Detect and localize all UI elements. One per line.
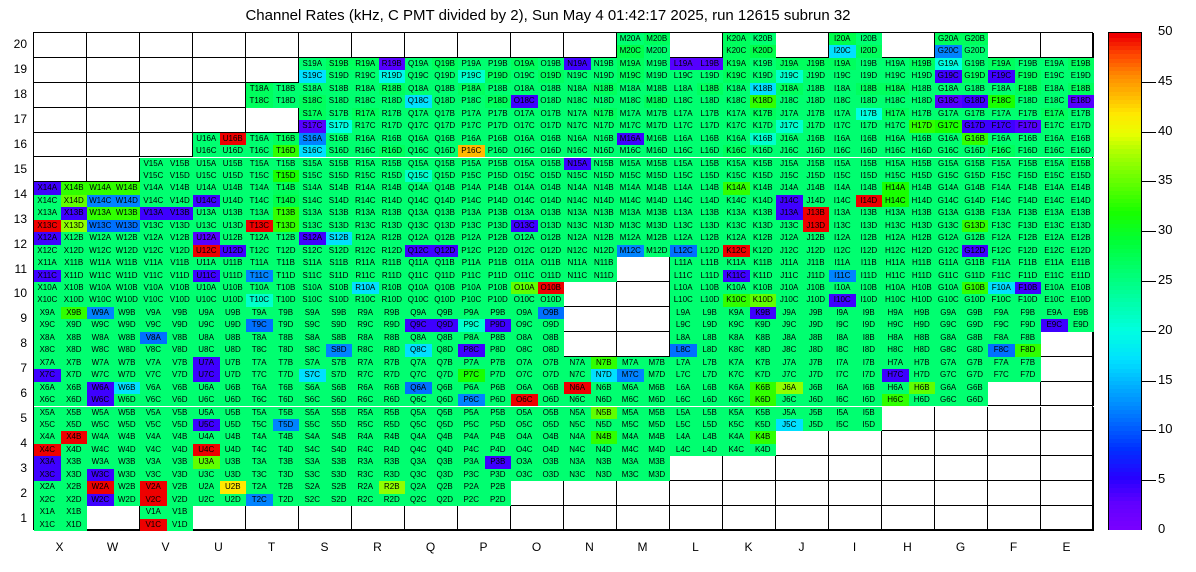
channel-O14D[interactable]: O14D	[538, 195, 565, 207]
detector-module-L16[interactable]: L16AL16BL16CL16D	[670, 133, 723, 158]
channel-N19B[interactable]: N19B	[591, 58, 618, 70]
channel-X7C[interactable]: X7C	[34, 369, 61, 381]
channel-L16B[interactable]: L16B	[697, 133, 724, 145]
detector-module-H11[interactable]: H11AH11BH11CH11D	[882, 257, 935, 282]
channel-M13D[interactable]: M13D	[644, 220, 671, 232]
detector-module-Q5[interactable]: Q5AQ5BQ5CQ5D	[405, 407, 458, 432]
channel-U12D[interactable]: U12D	[220, 245, 247, 257]
channel-E16B[interactable]: E16B	[1068, 133, 1095, 145]
detector-module-H18[interactable]: H18AH18BH18CH18D	[882, 83, 935, 108]
channel-S14C[interactable]: S14C	[299, 195, 326, 207]
detector-module-V11[interactable]: V11AV11BV11CV11D	[140, 257, 193, 282]
channel-K18C[interactable]: K18C	[723, 95, 750, 107]
channel-E10B[interactable]: E10B	[1068, 282, 1095, 294]
channel-P15C[interactable]: P15C	[458, 170, 485, 182]
channel-M15A[interactable]: M15A	[617, 158, 644, 170]
channel-T18A[interactable]: T18A	[246, 83, 273, 95]
detector-module-O16[interactable]: O16AO16BO16CO16D	[511, 133, 564, 158]
detector-module-M8[interactable]	[617, 332, 670, 357]
channel-K12D[interactable]: K12D	[750, 245, 777, 257]
channel-W9A[interactable]: W9A	[87, 307, 114, 319]
channel-O3A[interactable]: O3A	[511, 456, 538, 468]
detector-module-U18[interactable]	[193, 83, 246, 108]
channel-L7B[interactable]: L7B	[697, 357, 724, 369]
detector-module-X17[interactable]	[34, 108, 87, 133]
channel-R6C[interactable]: R6C	[352, 394, 379, 406]
channel-O5D[interactable]: O5D	[538, 419, 565, 431]
detector-module-I1[interactable]	[829, 506, 882, 531]
channel-O18B[interactable]: O18B	[538, 83, 565, 95]
channel-P14A[interactable]: P14A	[458, 182, 485, 194]
channel-G6A[interactable]: G6A	[935, 382, 962, 394]
channel-K18A[interactable]: K18A	[723, 83, 750, 95]
detector-module-X20[interactable]	[34, 33, 87, 58]
channel-S19A[interactable]: S19A	[299, 58, 326, 70]
channel-O7C[interactable]: O7C	[511, 369, 538, 381]
channel-X6A[interactable]: X6A	[34, 382, 61, 394]
channel-F18B[interactable]: F18B	[1015, 83, 1042, 95]
channel-N4B[interactable]: N4B	[591, 431, 618, 443]
channel-R8A[interactable]: R8A	[352, 332, 379, 344]
channel-P5D[interactable]: P5D	[485, 419, 512, 431]
channel-I5A[interactable]: I5A	[829, 407, 856, 419]
detector-module-L18[interactable]: L18AL18BL18CL18D	[670, 83, 723, 108]
detector-module-S20[interactable]	[299, 33, 352, 58]
channel-E14C[interactable]: E14C	[1041, 195, 1068, 207]
channel-P14D[interactable]: P14D	[485, 195, 512, 207]
detector-module-M7[interactable]: M7AM7BM7CM7D	[617, 357, 670, 382]
channel-U9D[interactable]: U9D	[220, 319, 247, 331]
channel-O19C[interactable]: O19C	[511, 70, 538, 82]
detector-module-I16[interactable]: I16AI16BI16CI16D	[829, 133, 882, 158]
channel-N15D[interactable]: N15D	[591, 170, 618, 182]
channel-E12D[interactable]: E12D	[1068, 245, 1095, 257]
detector-module-R17[interactable]: R17AR17BR17CR17D	[352, 108, 405, 133]
channel-X5C[interactable]: X5C	[34, 419, 61, 431]
detector-module-R18[interactable]: R18AR18BR18CR18D	[352, 83, 405, 108]
channel-T12D[interactable]: T12D	[273, 245, 300, 257]
channel-R9C[interactable]: R9C	[352, 319, 379, 331]
channel-K10D[interactable]: K10D	[750, 294, 777, 306]
channel-K14C[interactable]: K14C	[723, 195, 750, 207]
channel-S8A[interactable]: S8A	[299, 332, 326, 344]
channel-J15B[interactable]: J15B	[803, 158, 830, 170]
detector-module-N12[interactable]: N12AN12BN12CN12D	[564, 232, 617, 257]
channel-J5C[interactable]: J5C	[776, 419, 803, 431]
channel-J13D[interactable]: J13D	[803, 220, 830, 232]
channel-T4A[interactable]: T4A	[246, 431, 273, 443]
channel-T4D[interactable]: T4D	[273, 444, 300, 456]
channel-T11D[interactable]: T11D	[273, 270, 300, 282]
detector-module-P7[interactable]: P7AP7BP7CP7D	[458, 357, 511, 382]
channel-K4A[interactable]: K4A	[723, 431, 750, 443]
channel-P18B[interactable]: P18B	[485, 83, 512, 95]
channel-K9B[interactable]: K9B	[750, 307, 777, 319]
detector-module-O19[interactable]: O19AO19BO19CO19D	[511, 58, 564, 83]
channel-E14B[interactable]: E14B	[1068, 182, 1095, 194]
channel-O13D[interactable]: O13D	[538, 220, 565, 232]
channel-X3A[interactable]: X3A	[34, 456, 61, 468]
channel-G7A[interactable]: G7A	[935, 357, 962, 369]
channel-E9C[interactable]: E9C	[1041, 319, 1068, 331]
detector-module-J20[interactable]	[776, 33, 829, 58]
channel-N11D[interactable]: N11D	[591, 270, 618, 282]
channel-E11C[interactable]: E11C	[1041, 270, 1068, 282]
channel-Q8C[interactable]: Q8C	[405, 344, 432, 356]
channel-L15A[interactable]: L15A	[670, 158, 697, 170]
channel-M19C[interactable]: M19C	[617, 70, 644, 82]
channel-K12C[interactable]: K12C	[723, 245, 750, 257]
detector-module-O18[interactable]: O18AO18BO18CO18D	[511, 83, 564, 108]
channel-O17C[interactable]: O17C	[511, 120, 538, 132]
channel-G12C[interactable]: G12C	[935, 245, 962, 257]
channel-K5A[interactable]: K5A	[723, 407, 750, 419]
channel-Q2D[interactable]: Q2D	[432, 494, 459, 506]
channel-J7B[interactable]: J7B	[803, 357, 830, 369]
channel-M14D[interactable]: M14D	[644, 195, 671, 207]
channel-X11C[interactable]: X11C	[34, 270, 61, 282]
detector-module-M16[interactable]: M16AM16BM16CM16D	[617, 133, 670, 158]
channel-I15C[interactable]: I15C	[829, 170, 856, 182]
channel-H8B[interactable]: H8B	[909, 332, 936, 344]
channel-R13A[interactable]: R13A	[352, 207, 379, 219]
channel-N12A[interactable]: N12A	[564, 232, 591, 244]
channel-H9A[interactable]: H9A	[882, 307, 909, 319]
channel-L8D[interactable]: L8D	[697, 344, 724, 356]
detector-module-E11[interactable]: E11AE11BE11CE11D	[1041, 257, 1094, 282]
detector-heatmap-plot[interactable]: M20AM20BM20CM20DK20AK20BK20CK20DI20AI20B…	[33, 32, 1093, 530]
channel-V13D[interactable]: V13D	[167, 220, 194, 232]
channel-K20D[interactable]: K20D	[750, 45, 777, 57]
channel-W8D[interactable]: W8D	[114, 344, 141, 356]
channel-U7A[interactable]: U7A	[193, 357, 220, 369]
channel-S4C[interactable]: S4C	[299, 444, 326, 456]
detector-module-I12[interactable]: I12AI12BI12CI12D	[829, 232, 882, 257]
detector-module-L1[interactable]	[670, 506, 723, 531]
channel-X9A[interactable]: X9A	[34, 307, 61, 319]
channel-F17A[interactable]: F17A	[988, 108, 1015, 120]
channel-O11C[interactable]: O11C	[511, 270, 538, 282]
channel-G8A[interactable]: G8A	[935, 332, 962, 344]
detector-module-V10[interactable]: V10AV10BV10CV10D	[140, 282, 193, 307]
detector-module-K17[interactable]: K17AK17BK17CK17D	[723, 108, 776, 133]
channel-Q15B[interactable]: Q15B	[432, 158, 459, 170]
channel-U7D[interactable]: U7D	[220, 369, 247, 381]
detector-module-G8[interactable]: G8AG8BG8CG8D	[935, 332, 988, 357]
detector-module-S2[interactable]: S2AS2BS2CS2D	[299, 481, 352, 506]
channel-N13A[interactable]: N13A	[564, 207, 591, 219]
channel-P2B[interactable]: P2B	[485, 481, 512, 493]
channel-T3C[interactable]: T3C	[246, 469, 273, 481]
detector-module-E3[interactable]	[1041, 456, 1094, 481]
channel-P13C[interactable]: P13C	[458, 220, 485, 232]
channel-O14A[interactable]: O14A	[511, 182, 538, 194]
channel-F18D[interactable]: F18D	[1015, 95, 1042, 107]
channel-S6A[interactable]: S6A	[299, 382, 326, 394]
channel-Q13D[interactable]: Q13D	[432, 220, 459, 232]
detector-module-G7[interactable]: G7AG7BG7CG7D	[935, 357, 988, 382]
channel-T15A[interactable]: T15A	[246, 158, 273, 170]
channel-I14D[interactable]: I14D	[856, 195, 883, 207]
channel-Q14C[interactable]: Q14C	[405, 195, 432, 207]
channel-Q19A[interactable]: Q19A	[405, 58, 432, 70]
channel-M12A[interactable]: M12A	[617, 232, 644, 244]
channel-U14A[interactable]: U14A	[193, 182, 220, 194]
channel-I5C[interactable]: I5C	[829, 419, 856, 431]
detector-module-R6[interactable]: R6AR6BR6CR6D	[352, 382, 405, 407]
channel-S8C[interactable]: S8C	[299, 344, 326, 356]
channel-M18D[interactable]: M18D	[644, 95, 671, 107]
channel-S10A[interactable]: S10A	[299, 282, 326, 294]
channel-J16D[interactable]: J16D	[803, 145, 830, 157]
detector-module-G13[interactable]: G13AG13BG13CG13D	[935, 207, 988, 232]
channel-J15A[interactable]: J15A	[776, 158, 803, 170]
channel-J17D[interactable]: J17D	[803, 120, 830, 132]
detector-module-R12[interactable]: R12AR12BR12CR12D	[352, 232, 405, 257]
channel-R8C[interactable]: R8C	[352, 344, 379, 356]
channel-S13C[interactable]: S13C	[299, 220, 326, 232]
channel-U15D[interactable]: U15D	[220, 170, 247, 182]
detector-module-W13[interactable]: W13AW13BW13CW13D	[87, 207, 140, 232]
channel-G17A[interactable]: G17A	[935, 108, 962, 120]
channel-N14D[interactable]: N14D	[591, 195, 618, 207]
channel-M3A[interactable]: M3A	[617, 456, 644, 468]
channel-Q18A[interactable]: Q18A	[405, 83, 432, 95]
channel-E13A[interactable]: E13A	[1041, 207, 1068, 219]
channel-E18B[interactable]: E18B	[1068, 83, 1095, 95]
channel-L19A[interactable]: L19A	[670, 58, 697, 70]
channel-V12B[interactable]: V12B	[167, 232, 194, 244]
channel-J5B[interactable]: J5B	[803, 407, 830, 419]
channel-R10B[interactable]: R10B	[379, 282, 406, 294]
channel-X14C[interactable]: X14C	[34, 195, 61, 207]
channel-J5A[interactable]: J5A	[776, 407, 803, 419]
detector-module-E12[interactable]: E12AE12BE12CE12D	[1041, 232, 1094, 257]
channel-I6D[interactable]: I6D	[856, 394, 883, 406]
channel-G20C[interactable]: G20C	[935, 45, 962, 57]
detector-module-T2[interactable]: T2AT2BT2CT2D	[246, 481, 299, 506]
channel-H16B[interactable]: H16B	[909, 133, 936, 145]
channel-G11B[interactable]: G11B	[962, 257, 989, 269]
channel-U10B[interactable]: U10B	[220, 282, 247, 294]
channel-J10B[interactable]: J10B	[803, 282, 830, 294]
channel-S11A[interactable]: S11A	[299, 257, 326, 269]
channel-E16C[interactable]: E16C	[1041, 145, 1068, 157]
detector-module-X1[interactable]: X1AX1BX1CX1D	[34, 506, 87, 531]
channel-K11D[interactable]: K11D	[750, 270, 777, 282]
channel-J8A[interactable]: J8A	[776, 332, 803, 344]
channel-M3B[interactable]: M3B	[644, 456, 671, 468]
channel-T12B[interactable]: T12B	[273, 232, 300, 244]
detector-module-F9[interactable]: F9AF9BF9CF9D	[988, 307, 1041, 332]
channel-H16A[interactable]: H16A	[882, 133, 909, 145]
detector-module-P6[interactable]: P6AP6BP6CP6D	[458, 382, 511, 407]
channel-T11C[interactable]: T11C	[246, 270, 273, 282]
detector-module-K2[interactable]	[723, 481, 776, 506]
channel-G6D[interactable]: G6D	[962, 394, 989, 406]
channel-P19A[interactable]: P19A	[458, 58, 485, 70]
channel-R17C[interactable]: R17C	[352, 120, 379, 132]
channel-N18C[interactable]: N18C	[564, 95, 591, 107]
detector-module-Q12[interactable]: Q12AQ12BQ12CQ12D	[405, 232, 458, 257]
channel-O4C[interactable]: O4C	[511, 444, 538, 456]
channel-M6B[interactable]: M6B	[644, 382, 671, 394]
channel-O10B[interactable]: O10B	[538, 282, 565, 294]
channel-H18A[interactable]: H18A	[882, 83, 909, 95]
channel-N7C[interactable]: N7C	[564, 369, 591, 381]
channel-U12A[interactable]: U12A	[193, 232, 220, 244]
channel-T16A[interactable]: T16A	[246, 133, 273, 145]
channel-W5D[interactable]: W5D	[114, 419, 141, 431]
channel-W2A[interactable]: W2A	[87, 481, 114, 493]
channel-J10A[interactable]: J10A	[776, 282, 803, 294]
channel-S13A[interactable]: S13A	[299, 207, 326, 219]
channel-L14D[interactable]: L14D	[697, 195, 724, 207]
channel-S19B[interactable]: S19B	[326, 58, 353, 70]
channel-J13B[interactable]: J13B	[803, 207, 830, 219]
channel-H8A[interactable]: H8A	[882, 332, 909, 344]
channel-X5B[interactable]: X5B	[61, 407, 88, 419]
channel-I12A[interactable]: I12A	[829, 232, 856, 244]
channel-P14C[interactable]: P14C	[458, 195, 485, 207]
channel-L5A[interactable]: L5A	[670, 407, 697, 419]
detector-module-F20[interactable]	[988, 33, 1041, 58]
channel-G7B[interactable]: G7B	[962, 357, 989, 369]
detector-module-N20[interactable]	[564, 33, 617, 58]
channel-T14C[interactable]: T14C	[246, 195, 273, 207]
channel-R17D[interactable]: R17D	[379, 120, 406, 132]
channel-M19B[interactable]: M19B	[644, 58, 671, 70]
channel-W6B[interactable]: W6B	[114, 382, 141, 394]
detector-module-L2[interactable]	[670, 481, 723, 506]
channel-W12A[interactable]: W12A	[87, 232, 114, 244]
channel-H7D[interactable]: H7D	[909, 369, 936, 381]
channel-X1B[interactable]: X1B	[61, 506, 88, 518]
channel-M5A[interactable]: M5A	[617, 407, 644, 419]
detector-module-P14[interactable]: P14AP14BP14CP14D	[458, 182, 511, 207]
channel-I9D[interactable]: I9D	[856, 319, 883, 331]
channel-L16A[interactable]: L16A	[670, 133, 697, 145]
channel-T9A[interactable]: T9A	[246, 307, 273, 319]
channel-O11A[interactable]: O11A	[511, 257, 538, 269]
channel-H19A[interactable]: H19A	[882, 58, 909, 70]
channel-H17B[interactable]: H17B	[909, 108, 936, 120]
channel-H7C[interactable]: H7C	[882, 369, 909, 381]
channel-J8C[interactable]: J8C	[776, 344, 803, 356]
channel-E9A[interactable]: E9A	[1041, 307, 1068, 319]
channel-G6B[interactable]: G6B	[962, 382, 989, 394]
channel-U3D[interactable]: U3D	[220, 469, 247, 481]
channel-W9D[interactable]: W9D	[114, 319, 141, 331]
channel-R16D[interactable]: R16D	[379, 145, 406, 157]
detector-module-K7[interactable]: K7AK7BK7CK7D	[723, 357, 776, 382]
detector-module-J18[interactable]: J18AJ18BJ18CJ18D	[776, 83, 829, 108]
channel-P6D[interactable]: P6D	[485, 394, 512, 406]
channel-P4B[interactable]: P4B	[485, 431, 512, 443]
channel-U11B[interactable]: U11B	[220, 257, 247, 269]
channel-F13B[interactable]: F13B	[1015, 207, 1042, 219]
detector-module-V12[interactable]: V12AV12BV12CV12D	[140, 232, 193, 257]
detector-module-F13[interactable]: F13AF13BF13CF13D	[988, 207, 1041, 232]
detector-module-U2[interactable]: U2AU2BU2CU2D	[193, 481, 246, 506]
detector-module-M3[interactable]: M3AM3BM3CM3D	[617, 456, 670, 481]
channel-G18A[interactable]: G18A	[935, 83, 962, 95]
channel-Q2B[interactable]: Q2B	[432, 481, 459, 493]
detector-module-I9[interactable]: I9AI9BI9CI9D	[829, 307, 882, 332]
detector-module-G16[interactable]: G16AG16BG16CG16D	[935, 133, 988, 158]
channel-I8B[interactable]: I8B	[856, 332, 883, 344]
channel-J14B[interactable]: J14B	[803, 182, 830, 194]
channel-S5A[interactable]: S5A	[299, 407, 326, 419]
channel-G15C[interactable]: G15C	[935, 170, 962, 182]
channel-U8D[interactable]: U8D	[220, 344, 247, 356]
channel-Q9D[interactable]: Q9D	[432, 319, 459, 331]
detector-module-X10[interactable]: X10AX10BX10CX10D	[34, 282, 87, 307]
channel-U8C[interactable]: U8C	[193, 344, 220, 356]
channel-J11B[interactable]: J11B	[803, 257, 830, 269]
channel-O6C[interactable]: O6C	[511, 394, 538, 406]
channel-O5C[interactable]: O5C	[511, 419, 538, 431]
detector-module-R19[interactable]: R19AR19BR19CR19D	[352, 58, 405, 83]
channel-G6C[interactable]: G6C	[935, 394, 962, 406]
channel-S14D[interactable]: S14D	[326, 195, 353, 207]
channel-V15D[interactable]: V15D	[167, 170, 194, 182]
channel-O10C[interactable]: O10C	[511, 294, 538, 306]
channel-P2D[interactable]: P2D	[485, 494, 512, 506]
channel-T5B[interactable]: T5B	[273, 407, 300, 419]
channel-Q6A[interactable]: Q6A	[405, 382, 432, 394]
channel-J12A[interactable]: J12A	[776, 232, 803, 244]
detector-module-J7[interactable]: J7AJ7BJ7CJ7D	[776, 357, 829, 382]
detector-module-J4[interactable]	[776, 431, 829, 456]
channel-U15B[interactable]: U15B	[220, 158, 247, 170]
channel-E9D[interactable]: E9D	[1068, 319, 1095, 331]
channel-T13D[interactable]: T13D	[273, 220, 300, 232]
channel-R11D[interactable]: R11D	[379, 270, 406, 282]
detector-module-W1[interactable]	[87, 506, 140, 531]
channel-E11D[interactable]: E11D	[1068, 270, 1095, 282]
channel-V14B[interactable]: V14B	[167, 182, 194, 194]
channel-F12D[interactable]: F12D	[1015, 245, 1042, 257]
detector-module-S9[interactable]: S9AS9BS9CS9D	[299, 307, 352, 332]
channel-R5B[interactable]: R5B	[379, 407, 406, 419]
channel-S15C[interactable]: S15C	[299, 170, 326, 182]
channel-N14B[interactable]: N14B	[591, 182, 618, 194]
channel-U5C[interactable]: U5C	[193, 419, 220, 431]
channel-L4A[interactable]: L4A	[670, 431, 697, 443]
detector-module-U14[interactable]: U14AU14BU14CU14D	[193, 182, 246, 207]
channel-J16C[interactable]: J16C	[776, 145, 803, 157]
channel-U3A[interactable]: U3A	[193, 456, 220, 468]
channel-O3B[interactable]: O3B	[538, 456, 565, 468]
channel-U4B[interactable]: U4B	[220, 431, 247, 443]
channel-G7C[interactable]: G7C	[935, 369, 962, 381]
detector-module-U13[interactable]: U13AU13BU13CU13D	[193, 207, 246, 232]
channel-P9A[interactable]: P9A	[458, 307, 485, 319]
channel-P5B[interactable]: P5B	[485, 407, 512, 419]
channel-F17D[interactable]: F17D	[1015, 120, 1042, 132]
channel-L4B[interactable]: L4B	[697, 431, 724, 443]
channel-G10A[interactable]: G10A	[935, 282, 962, 294]
channel-S5B[interactable]: S5B	[326, 407, 353, 419]
channel-J12C[interactable]: J12C	[776, 245, 803, 257]
detector-module-X14[interactable]: X14AX14BX14CX14D	[34, 182, 87, 207]
channel-U7B[interactable]: U7B	[220, 357, 247, 369]
channel-G14A[interactable]: G14A	[935, 182, 962, 194]
channel-M19A[interactable]: M19A	[617, 58, 644, 70]
channel-G8C[interactable]: G8C	[935, 344, 962, 356]
channel-F15D[interactable]: F15D	[1015, 170, 1042, 182]
